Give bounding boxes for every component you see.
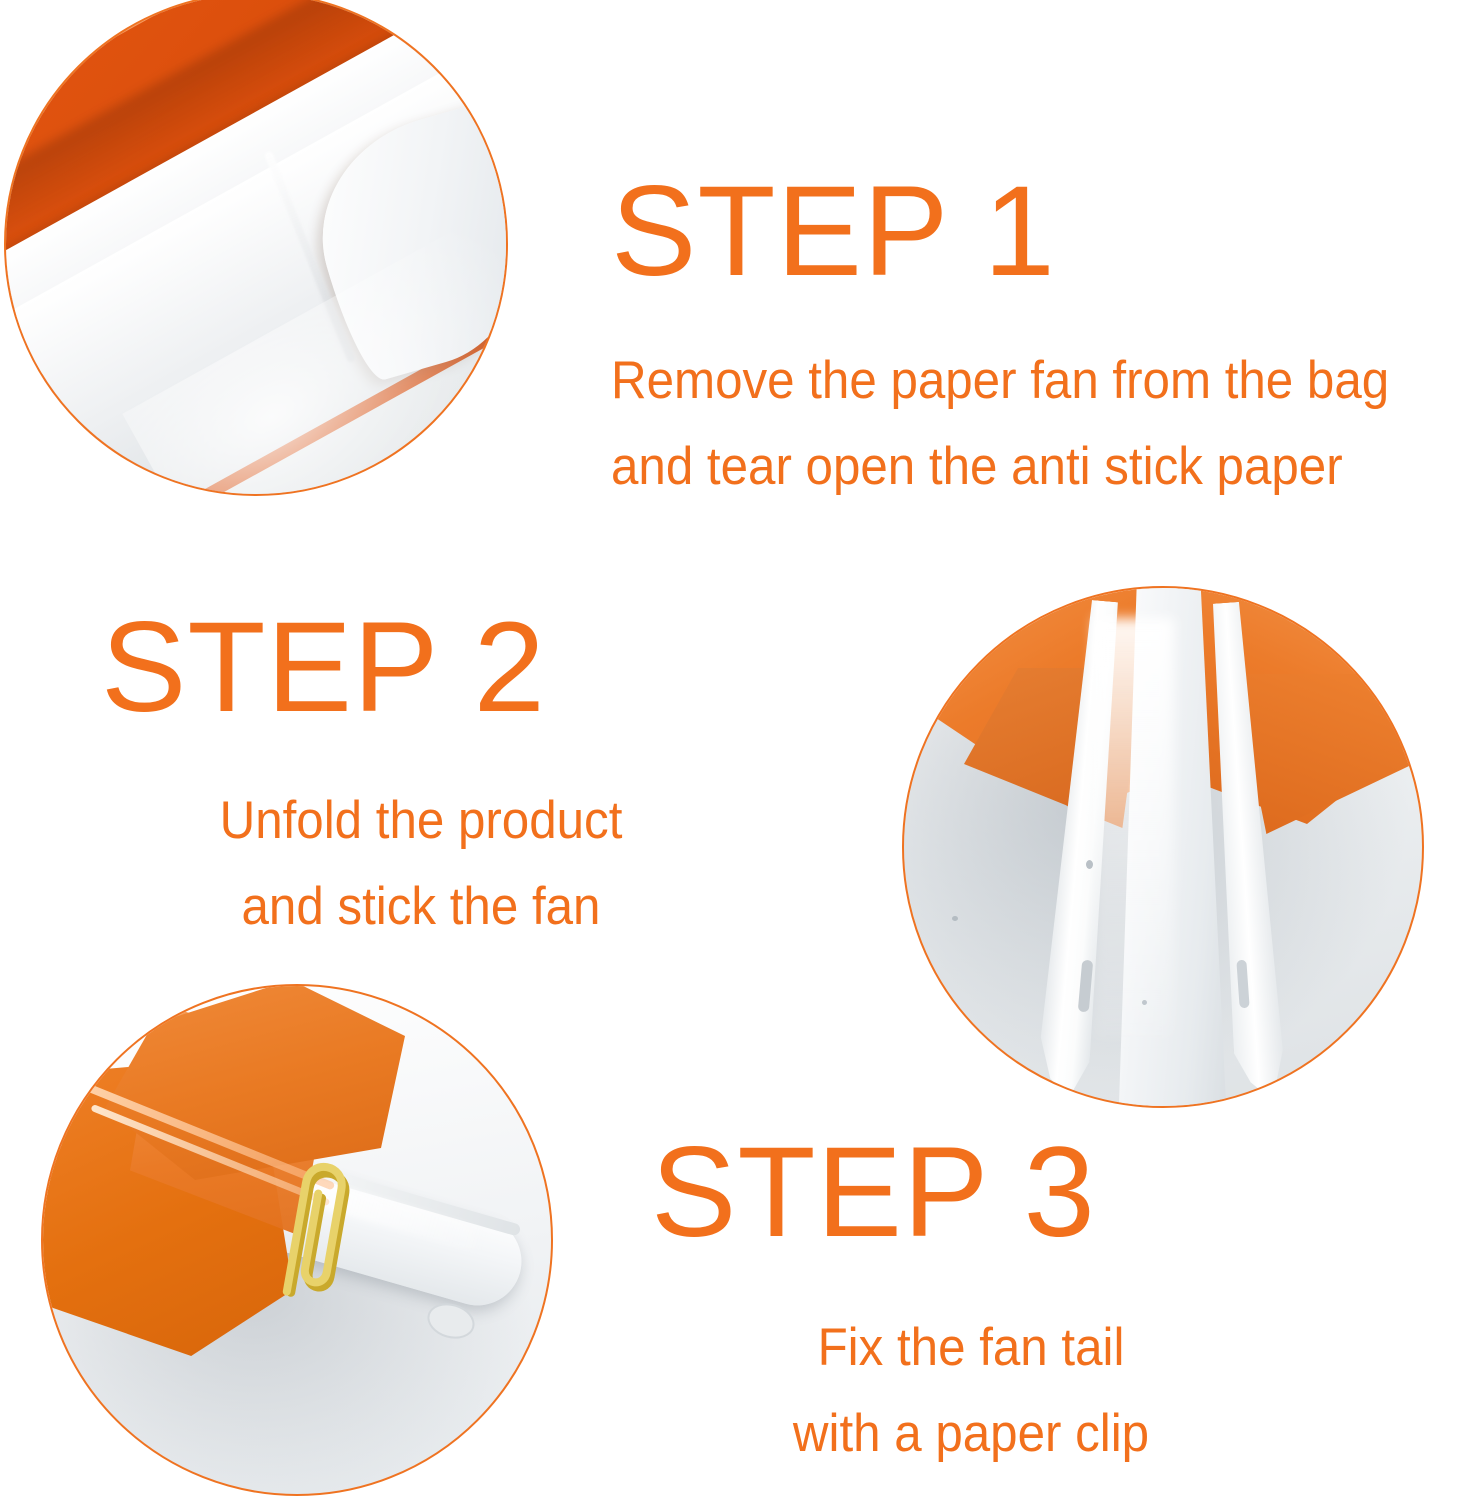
step-1-heading: STEP 1: [611, 168, 1448, 296]
step-1-text-block: STEP 1 Remove the paper fan from the bag…: [611, 168, 1448, 510]
photo-folded-fan-with-anti-stick-paper: [4, 0, 508, 496]
photo-fan-tail-with-paper-clip: [41, 984, 553, 1496]
step-2-line-2: and stick the fan: [123, 864, 718, 950]
instruction-infographic: STEP 1 Remove the paper fan from the bag…: [0, 0, 1461, 1500]
step-1-line-2: and tear open the anti stick paper: [611, 424, 1389, 510]
step-2-line-1: Unfold the product: [123, 778, 718, 864]
photo-inner-2: [904, 588, 1422, 1106]
step-3-text-block: STEP 3 Fix the fan tail with a paper cli…: [651, 1129, 1291, 1477]
tail-gloss-highlight: [1094, 618, 1174, 1038]
photo-unfolded-fan-white-tails: [902, 586, 1424, 1108]
photo-inner-1: [6, 0, 506, 494]
step-2-text-block: STEP 2 Unfold the product and stick the …: [101, 604, 741, 950]
surface-speck: [1142, 1000, 1147, 1005]
photo-inner-3: [43, 986, 551, 1494]
step-3-line-1: Fix the fan tail: [673, 1305, 1268, 1391]
fan-tail-hole: [1086, 860, 1093, 869]
surface-speck: [952, 916, 958, 921]
step-2-heading: STEP 2: [101, 604, 741, 732]
step-3-line-2: with a paper clip: [673, 1391, 1268, 1477]
step-1-line-1: Remove the paper fan from the bag: [611, 338, 1389, 424]
step-3-heading: STEP 3: [651, 1129, 1291, 1257]
